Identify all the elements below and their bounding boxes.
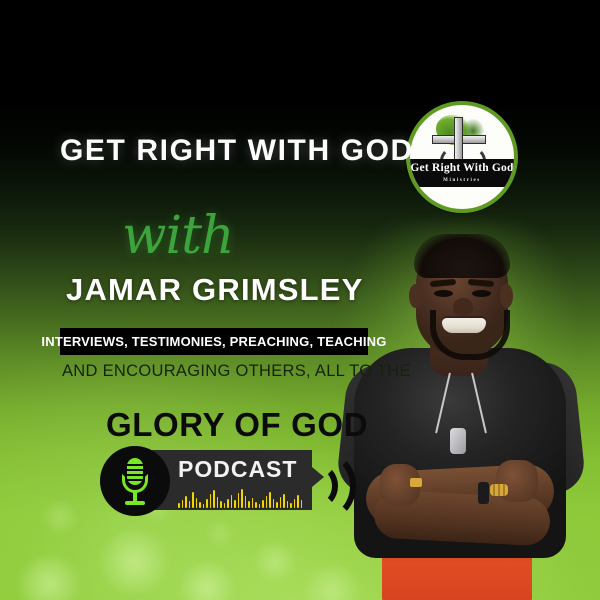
podcast-cover-artwork: Get Right With God Ministries GET RIGHT … — [0, 0, 600, 600]
waveform-bar — [210, 494, 212, 508]
waveform-bar — [206, 499, 208, 508]
waveform-bar — [182, 500, 184, 508]
waveform-bar — [290, 503, 292, 508]
waveform-bar — [203, 504, 205, 508]
mic-base — [125, 501, 145, 505]
waveform-bar — [301, 500, 303, 508]
microphone-circle — [100, 446, 170, 516]
waveform-bar — [280, 497, 282, 508]
microphone-icon — [122, 458, 148, 506]
ear-right — [500, 284, 513, 308]
closing-line: GLORY OF GOD — [106, 406, 368, 444]
waveform-bar — [178, 503, 180, 508]
waveform-bar — [297, 495, 299, 508]
waveform-bar — [294, 499, 296, 508]
podcast-badge: PODCAST — [100, 446, 338, 516]
waveform-bar — [196, 498, 198, 508]
waveform-bar — [224, 503, 226, 508]
waveform-bar — [192, 492, 194, 508]
waveform-bar — [234, 500, 236, 508]
waveform-bar — [217, 497, 219, 508]
waveform-bar — [245, 496, 247, 508]
waveform-bar — [185, 496, 187, 508]
tagline-bar: INTERVIEWS, TESTIMONIES, PREACHING, TEAC… — [60, 328, 368, 355]
waveform-bar — [259, 504, 261, 508]
tagline-bar-text: INTERVIEWS, TESTIMONIES, PREACHING, TEAC… — [41, 334, 386, 349]
waveform-bar — [266, 496, 268, 508]
waveform-bar — [227, 499, 229, 508]
waveform-bar — [283, 494, 285, 508]
eye-right — [472, 290, 491, 297]
waveform-bar — [231, 495, 233, 508]
gold-bracelet — [490, 484, 508, 496]
mic-ridge — [127, 464, 143, 466]
waveform-bar — [238, 493, 240, 508]
eye-left — [434, 290, 453, 297]
gold-ring — [410, 478, 422, 487]
host-photo — [338, 232, 600, 600]
waveform-bar — [255, 502, 257, 508]
logo-name: Get Right With God — [410, 163, 513, 175]
smile — [442, 318, 486, 333]
ministry-logo[interactable]: Get Right With God Ministries — [406, 101, 518, 213]
logo-subtitle: Ministries — [443, 178, 481, 183]
waveform-bar — [269, 492, 271, 508]
connector-word: with — [122, 206, 234, 266]
waveform-bar — [273, 499, 275, 508]
logo-nameplate: Get Right With God Ministries — [410, 159, 514, 187]
waveform-bar — [262, 500, 264, 508]
waveform-bar — [276, 502, 278, 508]
waveform-bar — [241, 489, 243, 508]
hair — [414, 234, 510, 278]
speech-bubble-tail — [306, 462, 324, 492]
waveform-bar — [248, 501, 250, 508]
waveform-bar — [213, 490, 215, 508]
waveform-bar — [189, 501, 191, 508]
show-title: GET RIGHT WITH GOD — [60, 134, 414, 168]
podcast-label: PODCAST — [178, 456, 297, 483]
waveform-bar — [199, 502, 201, 508]
waveform-bar — [252, 498, 254, 508]
ear-left — [409, 284, 422, 308]
host-name: JAMAR GRIMSLEY — [66, 272, 364, 308]
waveform — [178, 488, 302, 508]
wrist-band — [478, 482, 489, 504]
waveform-bar — [220, 501, 222, 508]
mic-ridge — [127, 469, 143, 471]
tagline-second-line: AND ENCOURAGING OTHERS, ALL TO THE — [62, 362, 411, 381]
dog-tag-pendant — [450, 428, 466, 454]
waveform-bar — [287, 501, 289, 508]
